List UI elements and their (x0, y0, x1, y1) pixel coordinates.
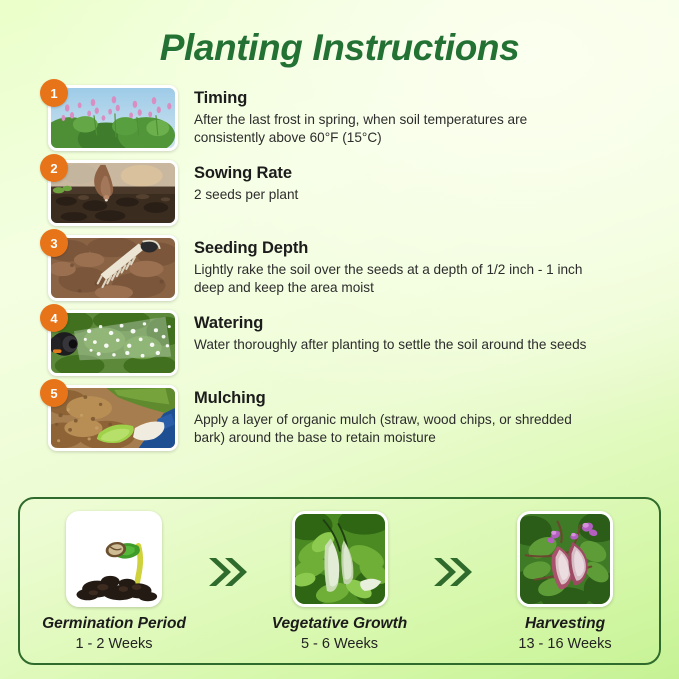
step-number-badge: 5 (40, 379, 68, 407)
step-text: Mulching Apply a layer of organic mulch … (194, 385, 653, 448)
step-title: Mulching (194, 389, 653, 408)
double-chevron-right-icon (425, 555, 479, 589)
step-title: Timing (194, 89, 653, 108)
step-description: Lightly rake the soil over the seeds at … (194, 261, 594, 298)
step-item: 2 Sowing Rate 2 seeds per plant (40, 160, 653, 226)
stage-name: Vegetative Growth (264, 615, 416, 633)
stage-duration: 1 - 2 Weeks (38, 636, 190, 652)
step-description: Apply a layer of organic mulch (straw, w… (194, 411, 594, 448)
purple-hyacinth-bean-pods-photo (517, 511, 613, 607)
step-text: Seeding Depth Lightly rake the soil over… (194, 235, 653, 298)
step-item: 5 Mulching Apply a layer of organic mulc… (40, 385, 653, 451)
stage-duration: 5 - 6 Weeks (264, 636, 416, 652)
step-thumbnail-wrap: 5 (40, 385, 178, 451)
timeline-stage: Germination Period 1 - 2 Weeks (38, 511, 190, 652)
step-number-badge: 2 (40, 154, 68, 182)
step-description: After the last frost in spring, when soi… (194, 111, 594, 148)
stage-name: Germination Period (38, 615, 190, 633)
growth-timeline-panel: Germination Period 1 - 2 Weeks (18, 497, 661, 665)
steps-list: 1 Timing After the last frost in spring,… (0, 85, 679, 451)
timeline-stage: Vegetative Growth 5 - 6 Weeks (264, 511, 416, 652)
step-number-badge: 1 (40, 79, 68, 107)
step-thumbnail-wrap: 1 (40, 85, 178, 151)
sprouting-seed-photo (66, 511, 162, 607)
step-number-badge: 3 (40, 229, 68, 257)
planting-instructions-infographic: Planting Instructions (0, 0, 679, 679)
page-title: Planting Instructions (0, 0, 679, 69)
step-text: Watering Water thoroughly after planting… (194, 310, 653, 354)
step-title: Seeding Depth (194, 239, 653, 258)
step-thumbnail-wrap: 4 (40, 310, 178, 376)
green-bean-pods-photo (292, 511, 388, 607)
step-item: 4 Watering Water thoroughly after planti… (40, 310, 653, 376)
step-title: Sowing Rate (194, 164, 653, 183)
timeline-stage: Harvesting 13 - 16 Weeks (489, 511, 641, 652)
step-item: 3 Seeding Depth Lightly rake the soil ov… (40, 235, 653, 301)
step-item: 1 Timing After the last frost in spring,… (40, 85, 653, 151)
double-chevron-right-icon (200, 555, 254, 589)
step-number-badge: 4 (40, 304, 68, 332)
step-description: 2 seeds per plant (194, 186, 594, 204)
stage-name: Harvesting (489, 615, 641, 633)
step-text: Timing After the last frost in spring, w… (194, 85, 653, 148)
step-title: Watering (194, 314, 653, 333)
stage-duration: 13 - 16 Weeks (489, 636, 641, 652)
step-text: Sowing Rate 2 seeds per plant (194, 160, 653, 204)
step-thumbnail-wrap: 3 (40, 235, 178, 301)
step-thumbnail-wrap: 2 (40, 160, 178, 226)
step-description: Water thoroughly after planting to settl… (194, 336, 594, 354)
